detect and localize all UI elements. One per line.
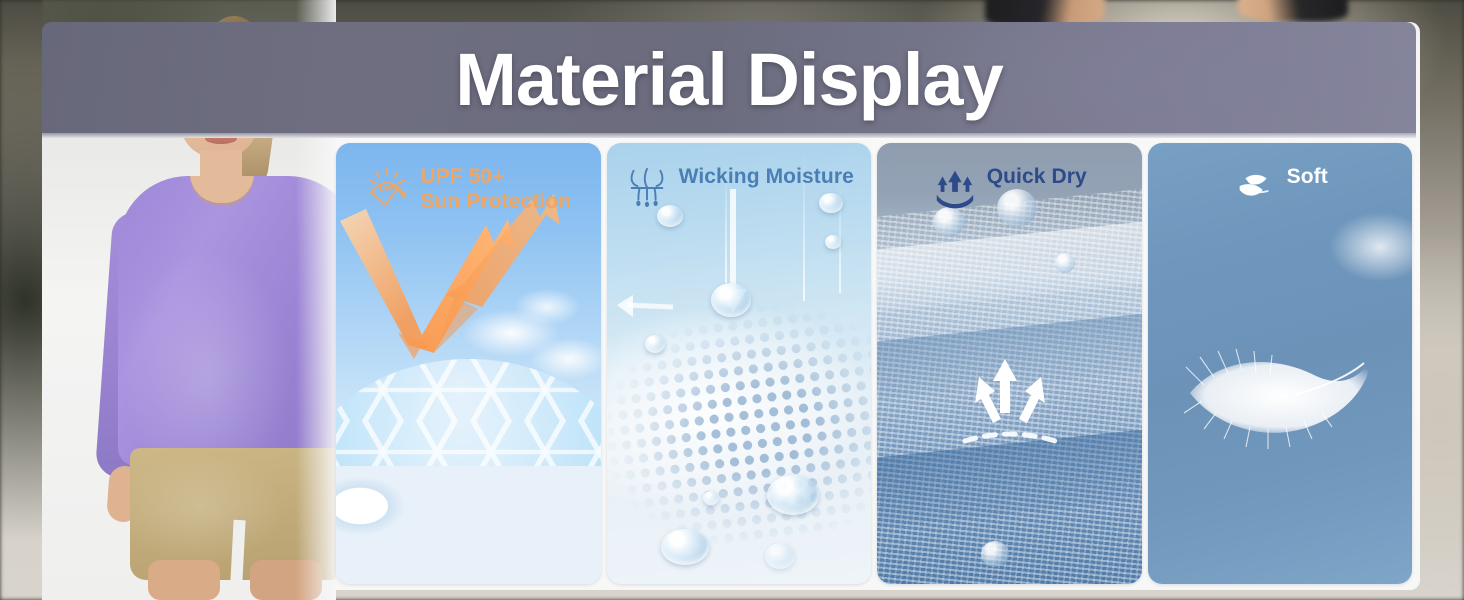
- feature-label-soft: Soft: [1148, 165, 1413, 211]
- page-title: Material Display: [42, 43, 1416, 117]
- water-droplet: [933, 207, 965, 237]
- sun-upf-icon: UPF: [365, 165, 411, 211]
- water-droplet: [711, 283, 751, 317]
- water-droplet: [661, 529, 709, 565]
- water-droplet: [1055, 253, 1075, 273]
- feature-label-upf: UPF UPF 50+ Sun Protection: [336, 165, 601, 215]
- feature-label-wicking: Wicking Moisture: [607, 165, 872, 211]
- water-droplet: [825, 235, 841, 249]
- water-droplet: [703, 491, 719, 505]
- moisture-wicking-icon: [624, 165, 670, 211]
- water-droplet: [767, 475, 819, 515]
- model-leg-left: [148, 560, 220, 600]
- quick-dry-arrows-icon: [932, 165, 978, 211]
- water-droplet: [765, 543, 795, 569]
- feature-label-text-wicking: Wicking Moisture: [679, 165, 854, 190]
- feather-icon: [1232, 165, 1278, 211]
- material-display-banner: Material Display: [0, 0, 1464, 600]
- feature-panel-quick-dry[interactable]: Quick Dry: [877, 143, 1142, 584]
- feature-panel-wicking-moisture[interactable]: Wicking Moisture: [607, 143, 872, 584]
- feature-label-text-soft: Soft: [1287, 165, 1328, 190]
- vapor-rising-arrows: [955, 351, 1065, 461]
- feature-panel-list: UPF UPF 50+ Sun Protection: [336, 143, 1412, 584]
- uv-reflection-arrows: [336, 183, 601, 443]
- feature-label-text-quick-dry: Quick Dry: [987, 165, 1087, 190]
- water-droplet: [981, 541, 1009, 567]
- fabric-wave-texture: [336, 466, 601, 584]
- backdrop-figure-right: [1238, 0, 1348, 22]
- feature-panel-upf-sun-protection[interactable]: UPF UPF 50+ Sun Protection: [336, 143, 601, 584]
- svg-text:UPF: UPF: [380, 184, 396, 193]
- feature-label-quick-dry: Quick Dry: [877, 165, 1142, 211]
- feature-panel-soft[interactable]: Soft: [1148, 143, 1413, 584]
- header-banner: Material Display: [42, 22, 1416, 138]
- water-droplet: [645, 335, 665, 353]
- mesh-fabric-pattern: [607, 285, 872, 584]
- floating-feather-graphic: [1174, 329, 1394, 469]
- feature-label-text-upf: UPF 50+ Sun Protection: [420, 165, 571, 215]
- airflow-left-arrow: [615, 291, 675, 321]
